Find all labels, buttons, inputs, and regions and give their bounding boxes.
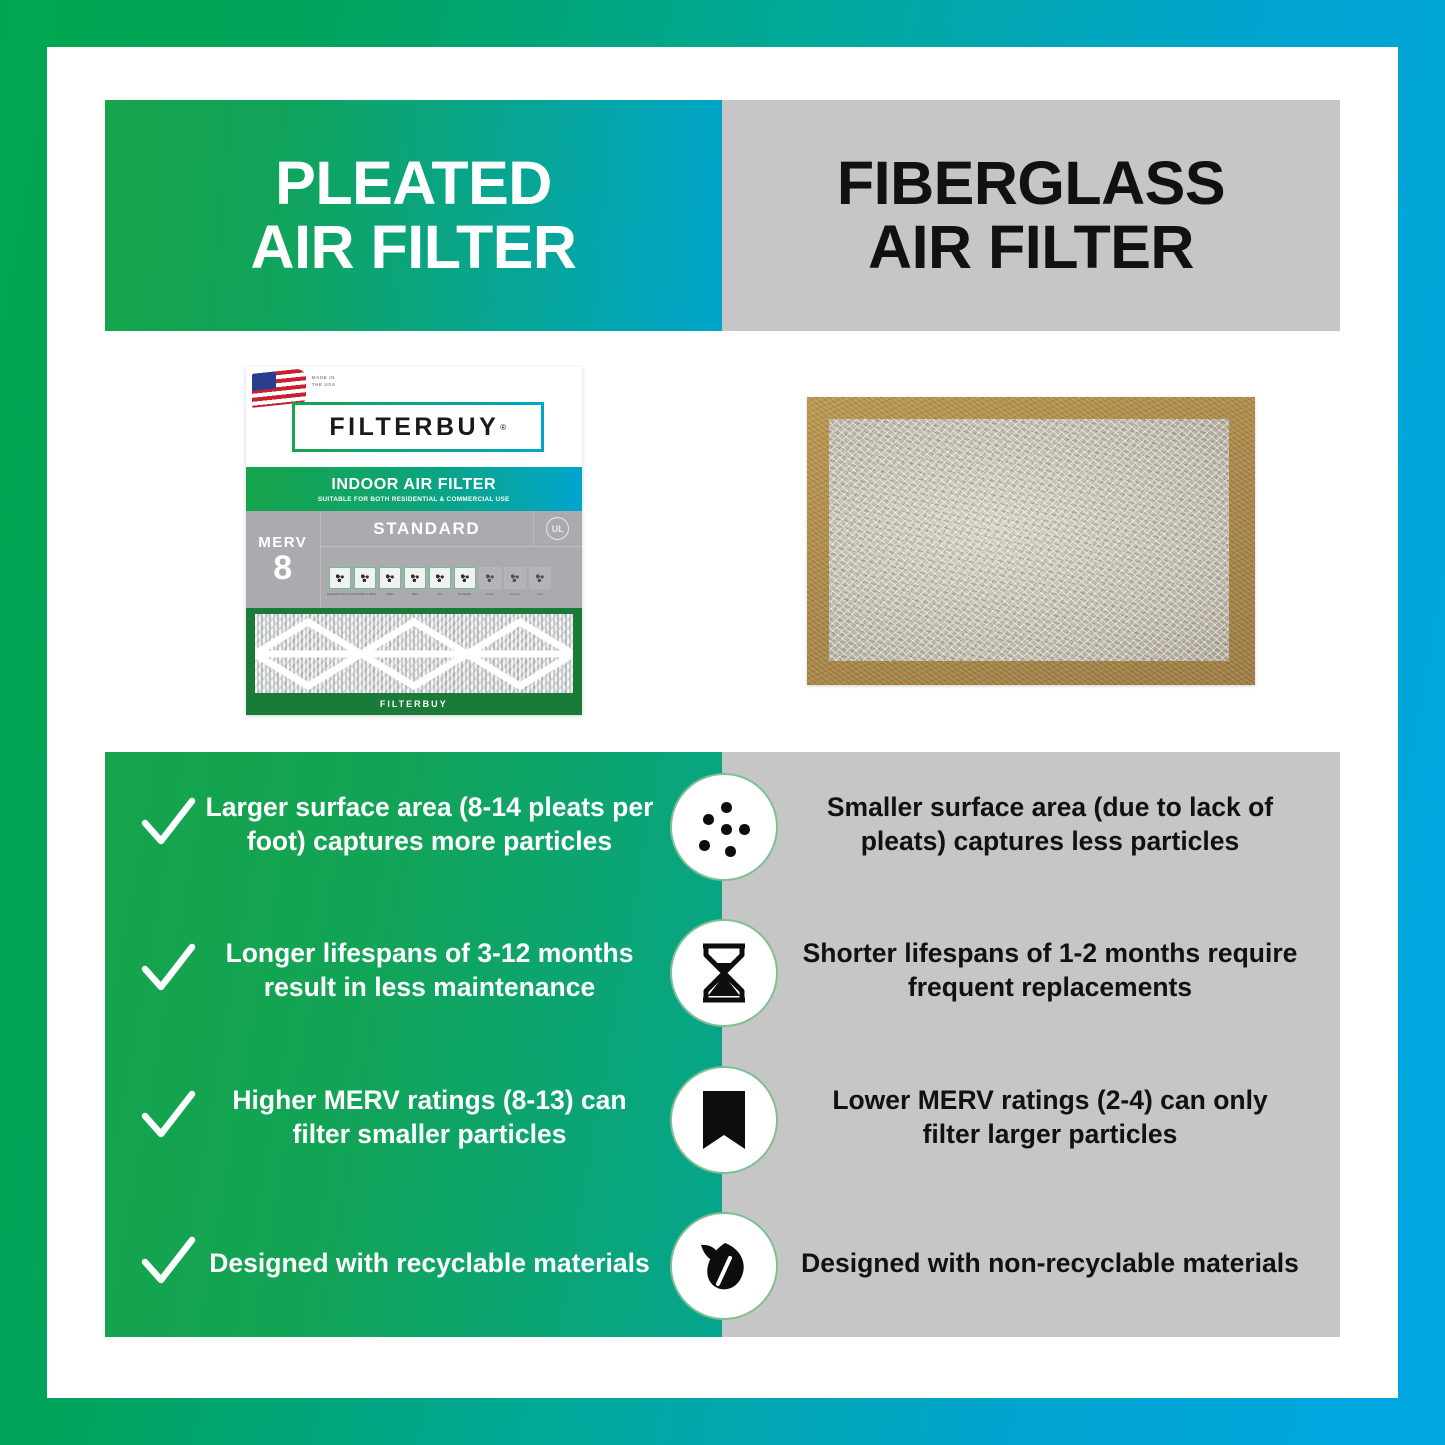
bacteria-icon-caption: Bacteria xyxy=(501,594,529,597)
check-mark-icon xyxy=(137,939,201,1003)
dust-lint-icon: Household Dust & Lint xyxy=(329,567,351,589)
fiberglass-drawback-cell: Smaller surface area (due to lack of ple… xyxy=(722,791,1340,859)
virus-icon: Virus xyxy=(529,567,551,589)
fiberglass-title: FIBERGLASS AIR FILTER xyxy=(837,152,1225,279)
header-band: PLEATED AIR FILTER FIBERGLASS AIR FILTER xyxy=(105,100,1340,331)
dust-mite-icon-caption: Dust Mites & Debris xyxy=(351,594,379,597)
fiberglass-drawback-cell: Shorter lifespans of 1-2 months require … xyxy=(722,937,1340,1005)
banner-subtitle: SUITABLE FOR BOTH RESIDENTIAL & COMMERCI… xyxy=(318,496,510,503)
smoke-icon-caption: Smoke xyxy=(476,594,504,597)
box-footer-brand: FILTERBUY xyxy=(246,693,582,715)
trademark-symbol: ® xyxy=(500,423,506,432)
grade-label: STANDARD xyxy=(321,519,533,539)
brand-frame: FILTERBUY® xyxy=(292,402,544,452)
leaf-eco-icon xyxy=(670,1212,778,1320)
fiberglass-drawback-text: Shorter lifespans of 1-2 months require … xyxy=(800,937,1300,1005)
check-mark-icon xyxy=(137,1086,201,1150)
fiberglass-drawback-text: Designed with non-recyclable materials xyxy=(800,1247,1300,1281)
bacteria-icon: Bacteria xyxy=(504,567,526,589)
mold-spores-icon-glyph xyxy=(409,572,420,583)
pleated-benefit-cell: Larger surface area (8-14 pleats per foo… xyxy=(105,791,722,859)
fiberglass-filter-image xyxy=(807,397,1255,685)
lint-icon-caption: Lint xyxy=(426,594,454,597)
made-in-usa-label: MADE IN THE USA xyxy=(312,375,336,389)
ribbon-bookmark-icon xyxy=(670,1066,778,1174)
dust-lint-icon-glyph xyxy=(334,572,345,583)
fiberglass-drawback-cell: Lower MERV ratings (2-4) can only filter… xyxy=(722,1084,1340,1152)
product-image-row: MADE IN THE USA FILTERBUY® INDOOR AIR FI… xyxy=(105,331,1340,751)
virus-icon-caption: Virus xyxy=(526,594,554,597)
banner-title: INDOOR AIR FILTER xyxy=(331,476,496,494)
ul-certification: UL xyxy=(533,511,582,546)
box-banner: INDOOR AIR FILTER SUITABLE FOR BOTH RESI… xyxy=(246,467,582,511)
pet-dander-icon: Pet Dander xyxy=(454,567,476,589)
check-mark-icon xyxy=(137,793,201,857)
infographic-canvas: PLEATED AIR FILTER FIBERGLASS AIR FILTER… xyxy=(0,0,1445,1445)
particles-dots-icon xyxy=(670,773,778,881)
fiberglass-media xyxy=(829,419,1229,661)
pleated-benefit-cell: Higher MERV ratings (8-13) can filter sm… xyxy=(105,1084,722,1152)
bacteria-icon-glyph xyxy=(509,572,520,583)
pleated-benefit-text: Designed with recyclable materials xyxy=(201,1247,662,1281)
grade-row: STANDARD UL xyxy=(321,511,582,547)
dust-lint-icon-caption: Household Dust & Lint xyxy=(326,594,354,597)
pleated-benefit-cell: Designed with recyclable materials xyxy=(105,1232,722,1296)
support-wire-icon xyxy=(255,614,573,693)
smoke-icon: Smoke xyxy=(479,567,501,589)
fiberglass-product-cell xyxy=(723,331,1341,751)
pleated-title: PLEATED AIR FILTER xyxy=(251,152,577,279)
pollen-icon-caption: Pollen xyxy=(376,594,404,597)
header-pleated-panel: PLEATED AIR FILTER xyxy=(105,100,722,331)
pleated-media-photo: FILTERBUY xyxy=(246,608,582,715)
filterbuy-box-image: MADE IN THE USA FILTERBUY® INDOOR AIR FI… xyxy=(246,367,582,715)
box-spec-right: STANDARD UL Household Dust & LintDust Mi… xyxy=(321,511,582,608)
lint-icon-glyph xyxy=(434,572,445,583)
check-mark-icon xyxy=(137,1232,201,1296)
capability-icon-strip: Household Dust & LintDust Mites & Debris… xyxy=(321,547,582,608)
pleated-benefit-text: Larger surface area (8-14 pleats per foo… xyxy=(201,791,662,859)
mold-spores-icon: Mold xyxy=(404,567,426,589)
pet-dander-icon-caption: Pet Dander xyxy=(451,594,479,597)
ul-mark-icon: UL xyxy=(546,517,569,540)
smoke-icon-glyph xyxy=(484,572,495,583)
pleated-benefit-text: Higher MERV ratings (8-13) can filter sm… xyxy=(201,1084,662,1152)
comparison-section: Larger surface area (8-14 pleats per foo… xyxy=(105,752,1340,1337)
dust-mite-icon-glyph xyxy=(359,572,370,583)
brand-name: FILTERBUY xyxy=(329,413,499,442)
fiberglass-drawback-text: Lower MERV ratings (2-4) can only filter… xyxy=(800,1084,1300,1152)
particles-dots-glyph xyxy=(695,798,753,856)
mold-spores-icon-caption: Mold xyxy=(401,594,429,597)
pet-dander-icon-glyph xyxy=(459,572,470,583)
virus-icon-glyph xyxy=(534,572,545,583)
box-spec-section: MERV 8 STANDARD UL Household Dust & Lint… xyxy=(246,511,582,608)
box-top-section: MADE IN THE USA FILTERBUY® xyxy=(246,367,582,467)
pollen-icon: Pollen xyxy=(379,567,401,589)
merv-badge: MERV 8 xyxy=(246,511,321,608)
dust-mite-icon: Dust Mites & Debris xyxy=(354,567,376,589)
pleat-surface xyxy=(255,614,573,693)
hourglass-icon xyxy=(670,919,778,1027)
merv-value: 8 xyxy=(273,551,292,585)
pleated-benefit-cell: Longer lifespans of 3-12 months result i… xyxy=(105,937,722,1005)
fiberglass-drawback-cell: Designed with non-recyclable materials xyxy=(722,1247,1340,1281)
pleated-product-cell: MADE IN THE USA FILTERBUY® INDOOR AIR FI… xyxy=(105,331,723,751)
fiberglass-drawback-text: Smaller surface area (due to lack of ple… xyxy=(800,791,1300,859)
pleated-benefit-text: Longer lifespans of 3-12 months result i… xyxy=(201,937,662,1005)
lint-icon: Lint xyxy=(429,567,451,589)
header-fiberglass-panel: FIBERGLASS AIR FILTER xyxy=(722,100,1340,331)
pollen-icon-glyph xyxy=(384,572,395,583)
